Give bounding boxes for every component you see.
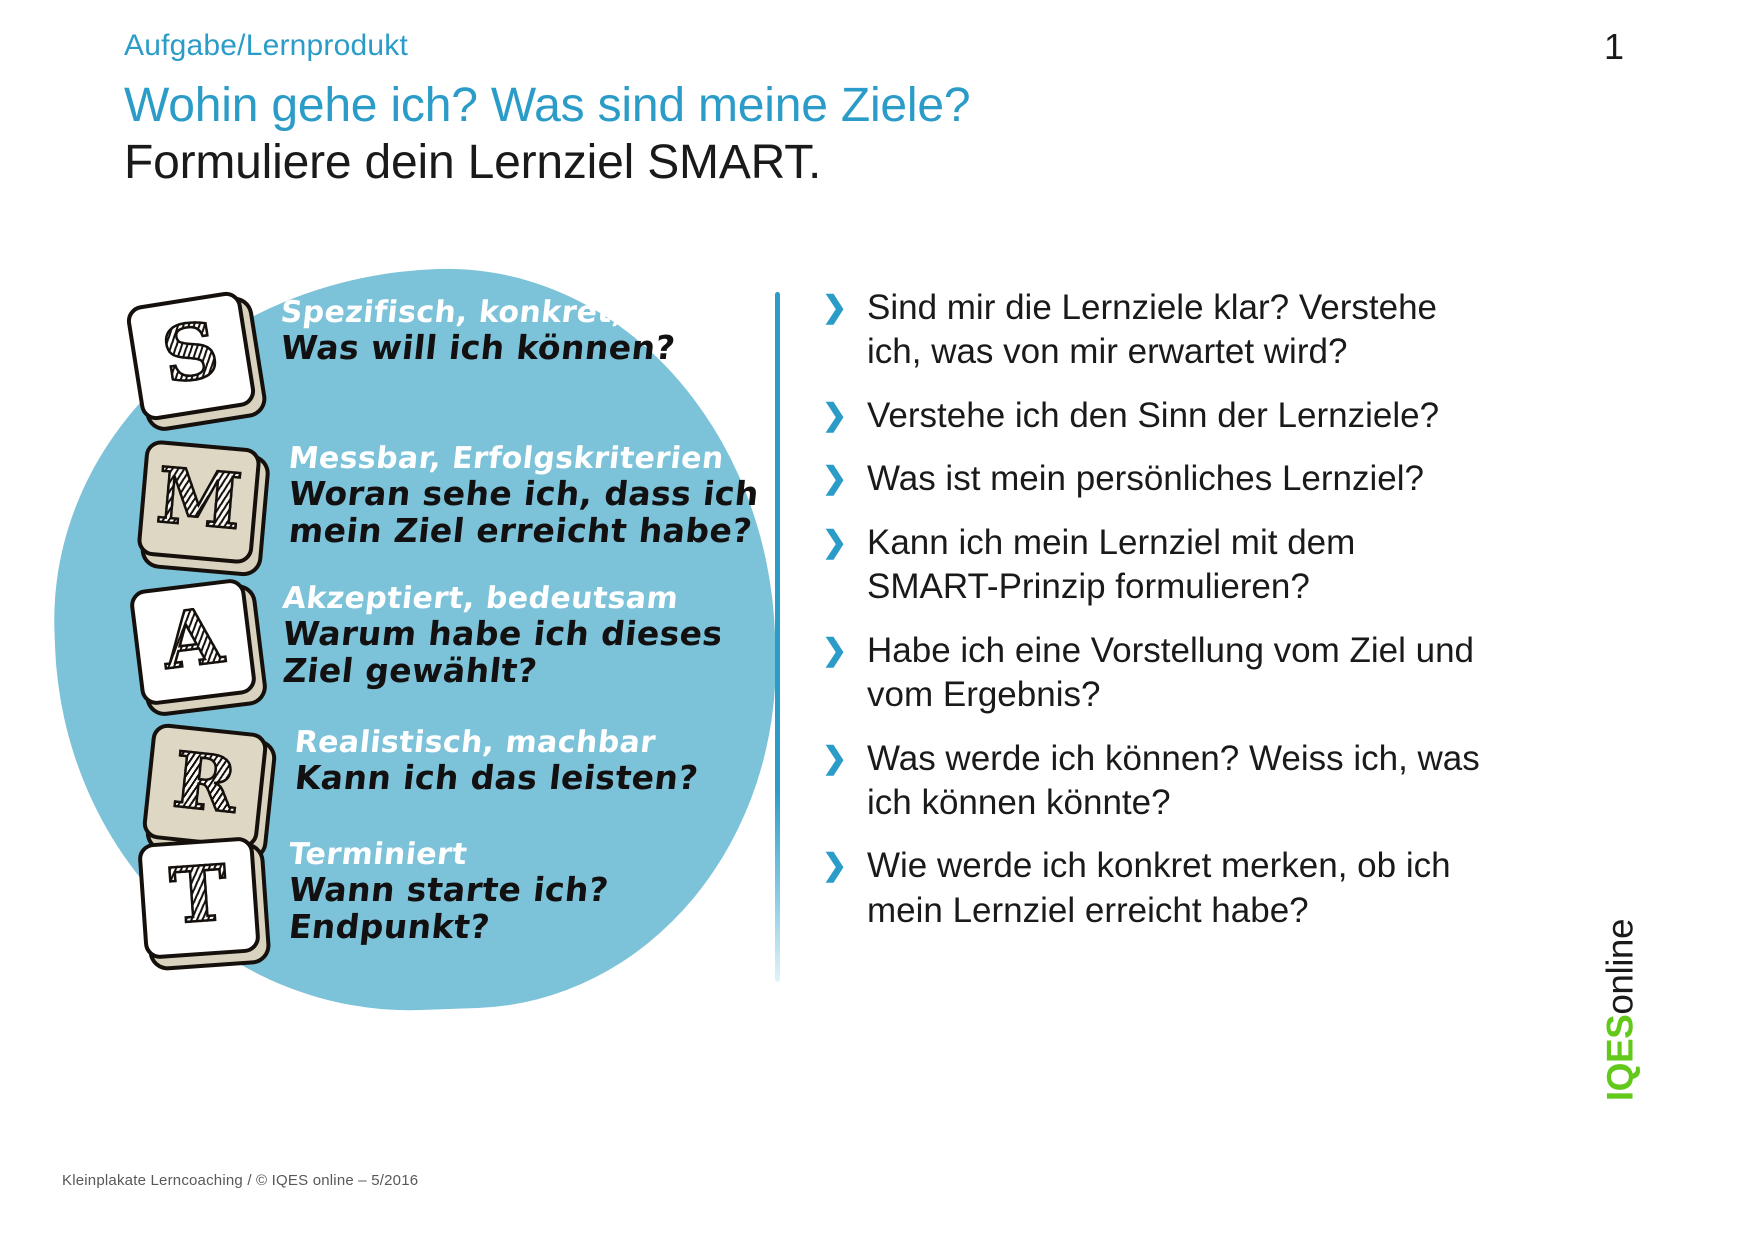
- list-item-label: Habe ich eine Vorstellung vom Ziel und v…: [867, 631, 1474, 714]
- logo-iqes-part: IQES: [1600, 1015, 1641, 1101]
- chevron-right-icon: ❯: [822, 522, 847, 564]
- smart-question-r-1: Kann ich das leisten?: [293, 760, 700, 797]
- chevron-right-icon: ❯: [822, 845, 847, 887]
- smart-text-m: Messbar, Erfolgskriterien Woran sehe ich…: [265, 438, 757, 550]
- cube-wrap-a: A: [127, 578, 259, 710]
- smart-text-s: Spezifisch, konkret, klar Was will ich k…: [257, 292, 700, 367]
- cube-letter-t: T: [168, 855, 230, 935]
- smart-keyword-a: Akzeptiert, bedeutsam: [281, 582, 724, 616]
- smart-illustration: S Spezifisch, konkret, klar Was will ich…: [55, 270, 775, 1010]
- list-item: ❯ Wie werde ich konkret merken, ob ich m…: [822, 844, 1494, 933]
- smart-question-a-2: Ziel gewählt?: [281, 653, 725, 690]
- iqes-online-logo: IQESonline: [1590, 890, 1650, 1130]
- list-item-label: Kann ich mein Lernziel mit dem SMART-Pri…: [867, 523, 1355, 606]
- page-header: Aufgabe/Lernprodukt 1 Wohin gehe ich? Wa…: [124, 28, 1624, 191]
- questions-list: ❯ Sind mir die Lernziele klar? Verstehe …: [822, 286, 1494, 952]
- cube-wrap-t: T: [133, 834, 265, 966]
- letter-cube-r: R: [141, 722, 268, 849]
- list-item: ❯ Was ist mein persönliches Lernziel?: [822, 457, 1494, 501]
- list-item-label: Was ist mein persönliches Lernziel?: [867, 459, 1424, 498]
- smart-text-a: Akzeptiert, bedeutsam Warum habe ich die…: [259, 578, 721, 690]
- chevron-right-icon: ❯: [822, 630, 847, 672]
- smart-row-m: M Messbar, Erfolgskriterien Woran sehe i…: [133, 438, 757, 570]
- cube-letter-r: R: [170, 742, 241, 824]
- list-item: ❯ Was werde ich können? Weiss ich, was i…: [822, 737, 1494, 826]
- cube-wrap-s: S: [125, 292, 257, 424]
- list-item: ❯ Kann ich mein Lernziel mit dem SMART-P…: [822, 521, 1494, 610]
- letter-cube-s: S: [125, 290, 258, 423]
- smart-row-a: A Akzeptiert, bedeutsam Warum habe ich d…: [127, 578, 721, 710]
- smart-row-t: T Terminiert Wann starte ich? Endpunkt?: [133, 834, 606, 966]
- smart-keyword-r: Realistisch, machbar: [293, 726, 700, 760]
- list-item: ❯ Verstehe ich den Sinn der Lernziele?: [822, 394, 1494, 438]
- header-kicker: Aufgabe/Lernprodukt: [124, 28, 1624, 64]
- page-number: 1: [1604, 26, 1624, 68]
- chevron-right-icon: ❯: [822, 287, 847, 329]
- smart-question-t-1: Wann starte ich?: [287, 872, 610, 909]
- list-item: ❯ Habe ich eine Vorstellung vom Ziel und…: [822, 629, 1494, 718]
- chevron-right-icon: ❯: [822, 395, 847, 437]
- list-item: ❯ Sind mir die Lernziele klar? Verstehe …: [822, 286, 1494, 375]
- logo-online-part: online: [1600, 919, 1641, 1015]
- list-item-label: Sind mir die Lernziele klar? Verstehe ic…: [867, 288, 1437, 371]
- smart-question-m-2: mein Ziel erreicht habe?: [287, 513, 761, 550]
- list-item-label: Wie werde ich konkret merken, ob ich mei…: [867, 846, 1451, 929]
- cube-wrap-m: M: [133, 438, 265, 570]
- letter-cube-a: A: [128, 577, 257, 706]
- letter-cube-t: T: [137, 836, 261, 960]
- cube-letter-s: S: [157, 311, 223, 395]
- smart-question-s-1: Was will ich können?: [279, 330, 704, 367]
- list-item-label: Verstehe ich den Sinn der Lernziele?: [867, 396, 1439, 435]
- vertical-divider-line: [775, 292, 780, 982]
- letter-cube-m: M: [136, 439, 262, 565]
- page-title: Wohin gehe ich? Was sind meine Ziele?: [124, 78, 1624, 135]
- chevron-right-icon: ❯: [822, 458, 847, 500]
- smart-question-t-2: Endpunkt?: [287, 909, 610, 946]
- smart-question-m-1: Woran sehe ich, dass ich: [287, 476, 761, 513]
- smart-keyword-s: Spezifisch, konkret, klar: [279, 296, 704, 330]
- list-item-label: Was werde ich können? Weiss ich, was ich…: [867, 739, 1480, 822]
- smart-row-s: S Spezifisch, konkret, klar Was will ich…: [125, 292, 700, 424]
- smart-keyword-t: Terminiert: [287, 838, 610, 872]
- cube-letter-a: A: [159, 598, 227, 681]
- chevron-right-icon: ❯: [822, 738, 847, 780]
- cube-letter-m: M: [154, 457, 244, 540]
- footer-credit: Kleinplakate Lerncoaching / © IQES onlin…: [62, 1172, 418, 1189]
- smart-question-a-1: Warum habe ich dieses: [281, 616, 725, 653]
- smart-text-r: Realistisch, machbar Kann ich das leiste…: [271, 722, 696, 797]
- page-subtitle: Formuliere dein Lernziel SMART.: [124, 135, 1624, 192]
- smart-keyword-m: Messbar, Erfolgskriterien: [287, 442, 760, 476]
- logo-text: IQESonline: [1602, 919, 1639, 1101]
- smart-text-t: Terminiert Wann starte ich? Endpunkt?: [265, 834, 606, 946]
